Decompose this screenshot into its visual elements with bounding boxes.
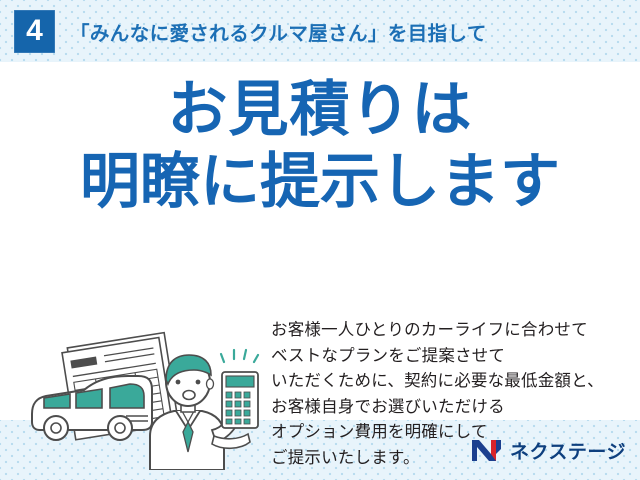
promotional-banner: 4 「みんなに愛されるクルマ屋さん」を目指して お見積りは 明瞭に提示します — [0, 0, 640, 480]
body-line-2: ベストなプランをご提案させて — [271, 344, 631, 370]
brand-name: ネクステージ — [510, 437, 626, 464]
header-title: 「みんなに愛されるクルマ屋さん」を目指して — [70, 17, 487, 46]
headline: お見積りは 明瞭に提示します — [0, 80, 640, 212]
step-number-badge: 4 — [14, 10, 55, 53]
body-line-1: お客様一人ひとりのカーライフに合わせて — [271, 318, 631, 344]
content-panel: お見積りは 明瞭に提示します — [0, 62, 640, 420]
brand-logo: ネクステージ — [470, 435, 626, 465]
body-line-4: お客様自身でお選びいただける — [271, 395, 631, 421]
nextage-n-mark-icon — [470, 437, 503, 463]
banner-footer: ネクステージ — [0, 420, 640, 480]
headline-line-1: お見積りは — [0, 80, 640, 140]
headline-line-2: 明瞭に提示します — [0, 152, 640, 212]
body-line-3: いただくために、契約に必要な最低金額と、 — [271, 369, 631, 395]
banner-header: 4 「みんなに愛されるクルマ屋さん」を目指して — [0, 0, 640, 62]
sparkle-icon — [221, 350, 258, 362]
